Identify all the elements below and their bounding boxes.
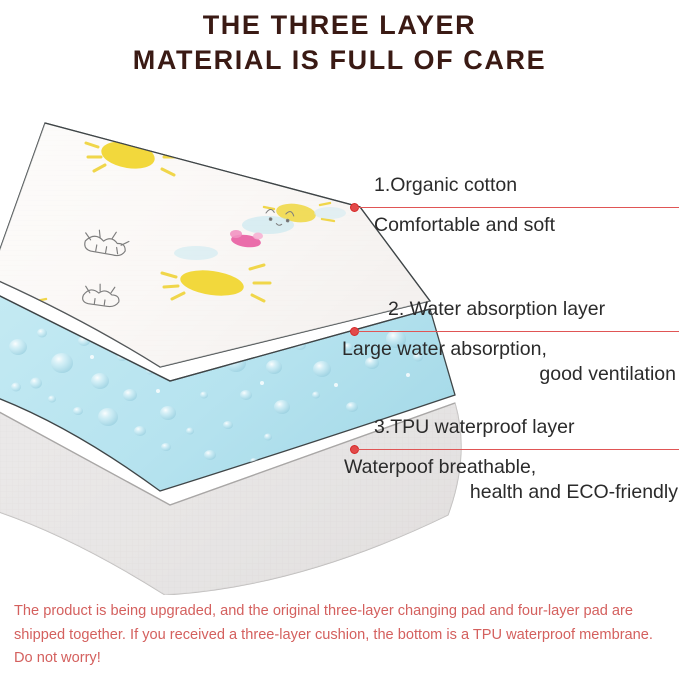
callout-1-sub-line-1: Comfortable and soft — [374, 213, 555, 238]
callout-1-title: 1.Organic cotton — [374, 174, 517, 197]
callout-2-title: 2. Water absorption layer — [388, 298, 605, 321]
callout-3-subtext: Waterpoof breathable, health and ECO-fri… — [344, 455, 678, 506]
title-line-1: THE THREE LAYER — [0, 8, 679, 43]
callout-3-title: 3.TPU waterproof layer — [374, 416, 575, 439]
callout-2-subtext: Large water absorption, good ventilation — [334, 337, 679, 388]
callout-2-sub-line-2: good ventilation — [334, 362, 679, 387]
callout-3-sub-line-1: Waterpoof breathable, — [344, 455, 678, 480]
callout-rule — [357, 207, 679, 209]
callout-rule — [357, 331, 679, 333]
callout-rule — [357, 449, 679, 451]
disclaimer-text: The product is being upgraded, and the o… — [14, 600, 664, 671]
callout-3-sub-line-2: health and ECO-friendly — [344, 480, 678, 505]
page-title: THE THREE LAYER MATERIAL IS FULL OF CARE — [0, 8, 679, 78]
title-line-2: MATERIAL IS FULL OF CARE — [0, 43, 679, 78]
callout-2-sub-line-1: Large water absorption, — [334, 337, 679, 362]
callout-1-subtext: Comfortable and soft — [374, 213, 555, 238]
